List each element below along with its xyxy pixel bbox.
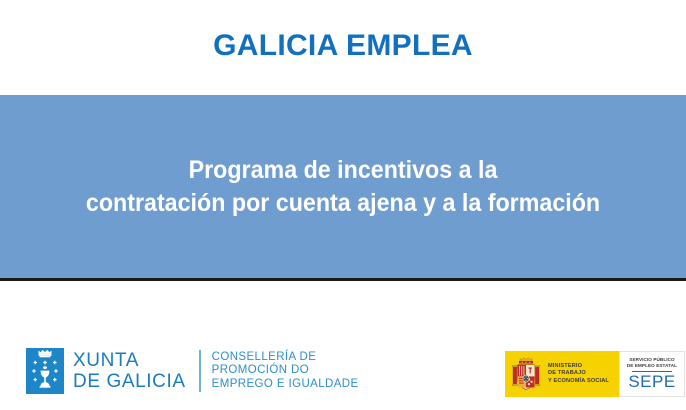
conselleria-line-3: EMPREGO E IGUALDADE bbox=[212, 378, 359, 392]
spain-coat-of-arms-icon bbox=[509, 354, 543, 394]
ministerio-wordmark: MINISTERIO DE TRABAJO Y ECONOMÍA SOCIAL bbox=[548, 363, 609, 385]
conselleria-line-2: PROMOCIÓN DO bbox=[212, 364, 359, 378]
program-banner-line-2: contratación por cuenta ajena y a la for… bbox=[37, 187, 649, 220]
ministerio-banner: MINISTERIO DE TRABAJO Y ECONOMÍA SOCIAL bbox=[505, 351, 619, 397]
ministerio-sepe-logo: MINISTERIO DE TRABAJO Y ECONOMÍA SOCIAL … bbox=[505, 351, 685, 397]
conselleria-line-1: CONSELLERÍA DE bbox=[212, 351, 359, 365]
xunta-wordmark-line-1: XUNTA bbox=[73, 350, 186, 371]
xunta-wordmark-line-2: DE GALICIA bbox=[73, 371, 186, 392]
xunta-de-galicia-logo: XUNTA DE GALICIA CONSELLERÍA DE PROMOCIÓ… bbox=[26, 348, 359, 394]
page-title: GALICIA EMPLEA bbox=[0, 28, 686, 64]
sepe-tagline-line-2: DE EMPLEO ESTATAL bbox=[627, 363, 677, 369]
conselleria-wordmark: CONSELLERÍA DE PROMOCIÓN DO EMPREGO E IG… bbox=[212, 351, 359, 392]
program-banner: Programa de incentivos a la contratación… bbox=[0, 95, 686, 281]
program-banner-text: Programa de incentivos a la contratación… bbox=[24, 154, 662, 220]
logo-divider bbox=[199, 350, 201, 392]
footer-logo-strip: XUNTA DE GALICIA CONSELLERÍA DE PROMOCIÓ… bbox=[0, 340, 686, 410]
ministerio-line-2: DE TRABAJO bbox=[548, 370, 609, 377]
ministerio-line-3: Y ECONOMÍA SOCIAL bbox=[548, 378, 609, 385]
galicia-coat-of-arms-icon bbox=[26, 348, 64, 394]
sepe-tagline: SERVICIO PÚBLICO DE EMPLEO ESTATAL bbox=[627, 357, 677, 369]
sepe-logo: SERVICIO PÚBLICO DE EMPLEO ESTATAL SEPE bbox=[619, 351, 685, 397]
ministerio-line-1: MINISTERIO bbox=[548, 363, 609, 370]
program-banner-line-1: Programa de incentivos a la bbox=[37, 154, 649, 187]
sepe-wordmark: SEPE bbox=[628, 373, 675, 391]
xunta-wordmark: XUNTA DE GALICIA bbox=[73, 350, 186, 392]
